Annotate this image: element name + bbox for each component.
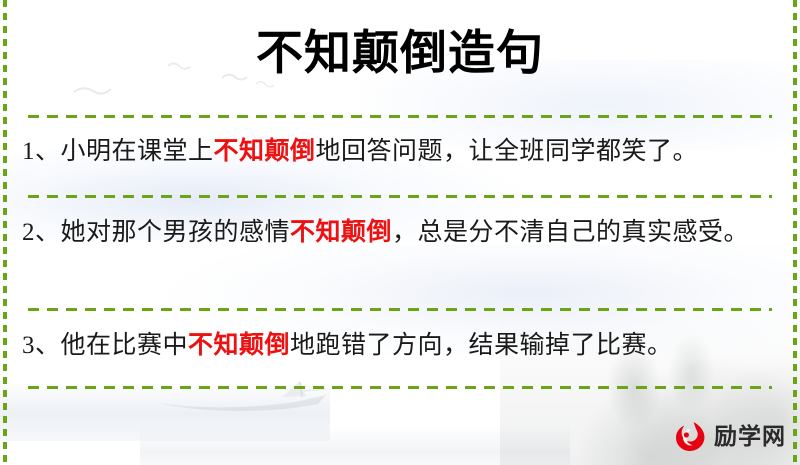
divider-above-sentence-1: [28, 115, 772, 118]
sentence-text-after: 地回答问题，让全班同学都笑了。: [316, 138, 699, 165]
page-root: 不知颠倒造句 1、小明在课堂上不知颠倒地回答问题，让全班同学都笑了。 2、她对那…: [0, 0, 800, 465]
sentence-item: 2、她对那个男孩的感情不知颠倒，总是分不清自己的真实感受。: [22, 214, 782, 252]
sentence-text-after: 地跑错了方向，结果输掉了比赛。: [290, 332, 673, 359]
flame-swirl-icon: [674, 420, 707, 453]
ink-wash-ridge-left: [0, 381, 330, 441]
sentence-item: 3、他在比赛中不知颠倒地跑错了方向，结果输掉了比赛。: [22, 327, 782, 365]
sentence-keyword: 不知颠倒: [214, 138, 316, 165]
sentence-index: 3、: [22, 332, 61, 359]
page-title: 不知颠倒造句: [0, 24, 800, 84]
sentence-index: 1、: [22, 138, 61, 165]
sentence-text-after: ，总是分不清自己的真实感受。: [392, 219, 749, 246]
site-watermark-logo: 励学网: [674, 420, 786, 453]
divider-below-sentence-3: [28, 386, 772, 389]
sentence-index: 2、: [22, 219, 61, 246]
ink-wash-ridge-center: [140, 425, 570, 465]
divider-above-sentence-2: [28, 195, 772, 198]
sentence-keyword: 不知颠倒: [290, 219, 392, 246]
sentence-text-before: 她对那个男孩的感情: [61, 219, 291, 246]
ink-wash-boat-icon: [150, 377, 340, 417]
sentence-keyword: 不知颠倒: [188, 332, 290, 359]
site-watermark-text: 励学网: [714, 425, 786, 448]
sentence-text-before: 他在比赛中: [61, 332, 189, 359]
divider-above-sentence-3: [28, 308, 772, 311]
sentence-text-before: 小明在课堂上: [61, 138, 214, 165]
sentence-item: 1、小明在课堂上不知颠倒地回答问题，让全班同学都笑了。: [22, 133, 782, 171]
